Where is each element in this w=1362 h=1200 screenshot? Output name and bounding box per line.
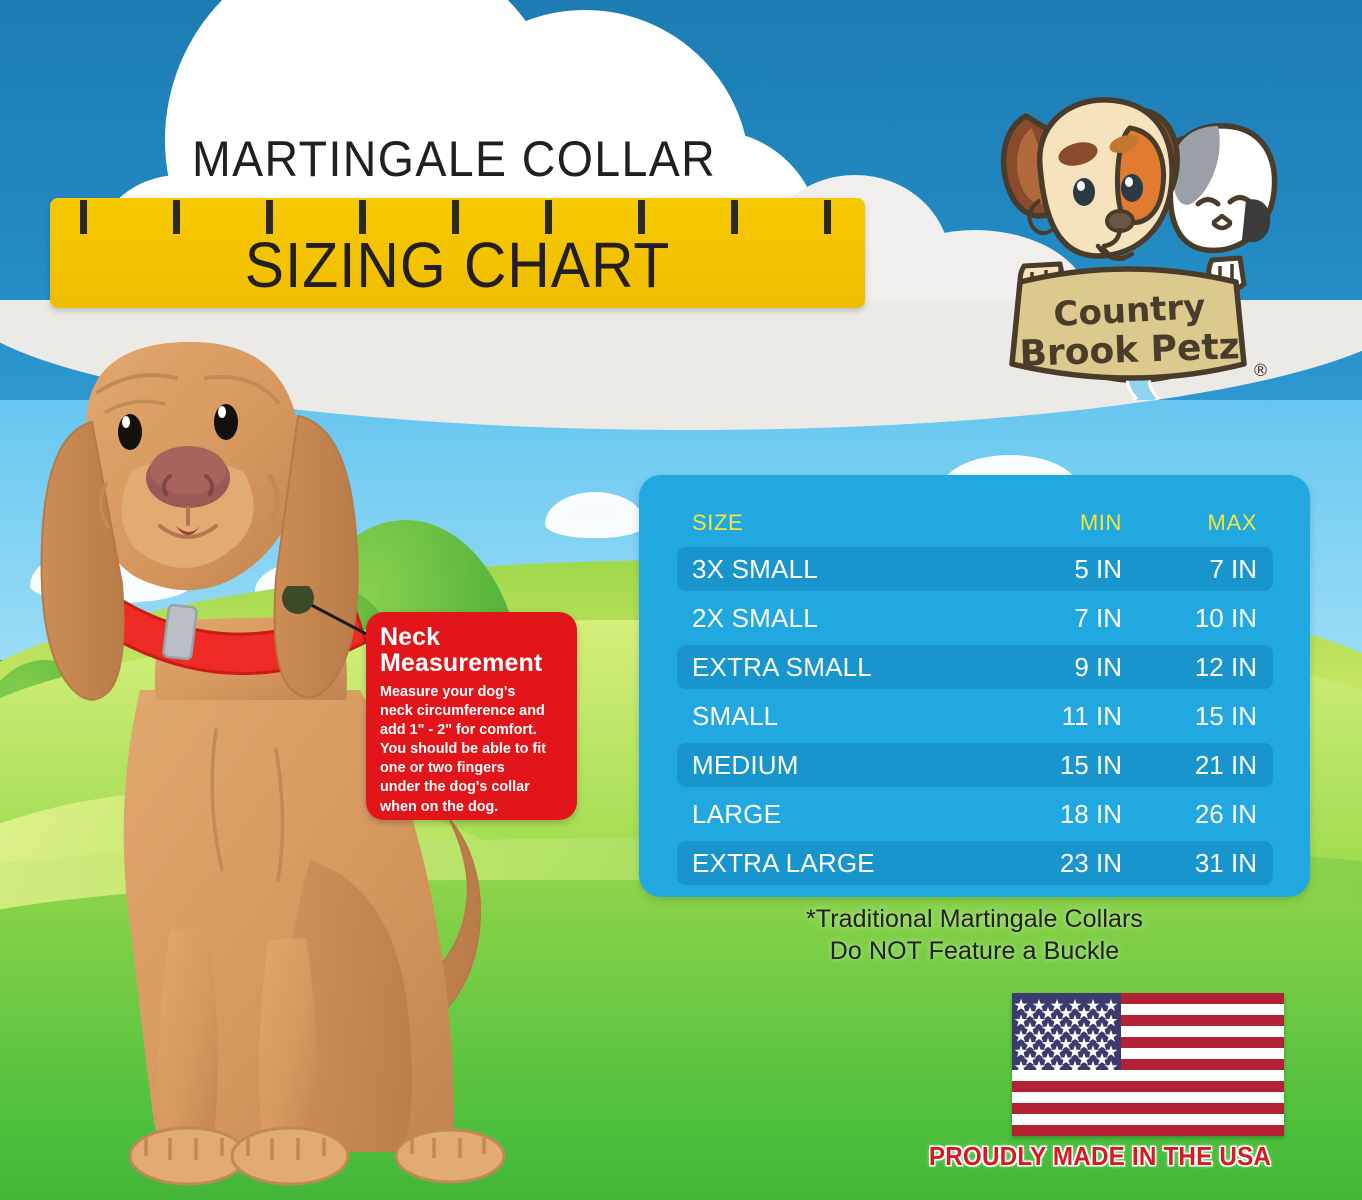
ruler-banner: SIZING CHART [50,198,865,308]
callout-body: Measure your dog's neck circumference an… [380,683,563,817]
table-row: LARGE 18 IN 26 IN [677,792,1273,836]
buckle-disclaimer: *Traditional Martingale Collars Do NOT F… [639,903,1310,967]
page-title: SIZING CHART [83,228,833,302]
callout-body-line7: when on the dog. [380,798,563,817]
cell-min: 5 IN [1007,554,1122,585]
table-row: 3X SMALL 5 IN 7 IN [677,547,1273,591]
callout-body-line4: You should be able to fit [380,740,563,759]
usa-flag-svg [1012,993,1284,1136]
cell-max: 15 IN [1137,701,1257,732]
cell-size: SMALL [692,701,778,732]
made-in-usa-label: PROUDLY MADE IN THE USA [872,1143,1328,1172]
callout-body-line6: under the dog's collar [380,778,563,797]
cell-max: 7 IN [1137,554,1257,585]
table-header-row: SIZE MIN MAX [677,501,1273,545]
table-row: MEDIUM 15 IN 21 IN [677,743,1273,787]
callout-body-line3: add 1" - 2" for comfort. [380,721,563,740]
callout-heading-line1: Neck [380,624,563,650]
callout-leader-line [282,586,376,642]
cell-size: MEDIUM [692,750,799,781]
table-row: EXTRA LARGE 23 IN 31 IN [677,841,1273,885]
cell-size: EXTRA LARGE [692,848,875,879]
cell-min: 11 IN [1007,701,1122,732]
callout-heading-line2: Measurement [380,650,563,676]
cell-size: EXTRA SMALL [692,652,872,683]
cell-max: 12 IN [1137,652,1257,683]
cell-max: 10 IN [1137,603,1257,634]
table-row: EXTRA SMALL 9 IN 12 IN [677,645,1273,689]
cell-size: 3X SMALL [692,554,818,585]
disclaimer-line2: Do NOT Feature a Buckle [639,935,1310,967]
logo-registered-mark: ® [1252,361,1269,381]
table-row: SMALL 11 IN 15 IN [677,694,1273,738]
sizing-table-panel: SIZE MIN MAX 3X SMALL 5 IN 7 IN 2X SMALL… [639,475,1310,897]
usa-flag [1012,993,1284,1136]
callout-body-line2: neck circumference and [380,702,563,721]
table-row: 2X SMALL 7 IN 10 IN [677,596,1273,640]
cell-size: LARGE [692,799,781,830]
brand-logo-svg: Country Brook Petz ® [980,70,1280,400]
brand-logo[interactable]: Country Brook Petz ® [980,70,1280,400]
callout-heading: Neck Measurement [380,624,563,676]
cat-illustration [1170,126,1274,251]
cell-min: 23 IN [1007,848,1122,879]
cell-size: 2X SMALL [692,603,818,634]
page-subtitle: MARTINGALE COLLAR [192,130,716,188]
neck-measurement-callout: Neck Measurement Measure your dog's neck… [366,612,577,820]
cell-min: 15 IN [1007,750,1122,781]
cell-min: 9 IN [1007,652,1122,683]
cell-max: 26 IN [1137,799,1257,830]
column-header-size: SIZE [692,510,743,536]
cell-max: 21 IN [1137,750,1257,781]
cell-min: 18 IN [1007,799,1122,830]
disclaimer-line1: *Traditional Martingale Collars [639,903,1310,935]
column-header-max: MAX [1137,510,1257,536]
callout-body-line1: Measure your dog's [380,683,563,702]
column-header-min: MIN [1007,510,1122,536]
callout-body-line5: one or two fingers [380,759,563,778]
sizing-chart-infographic: MARTINGALE COLLAR SIZING CHART [0,0,1362,1200]
cell-max: 31 IN [1137,848,1257,879]
logo-line2: Brook Petz [1019,326,1240,375]
cell-min: 7 IN [1007,603,1122,634]
